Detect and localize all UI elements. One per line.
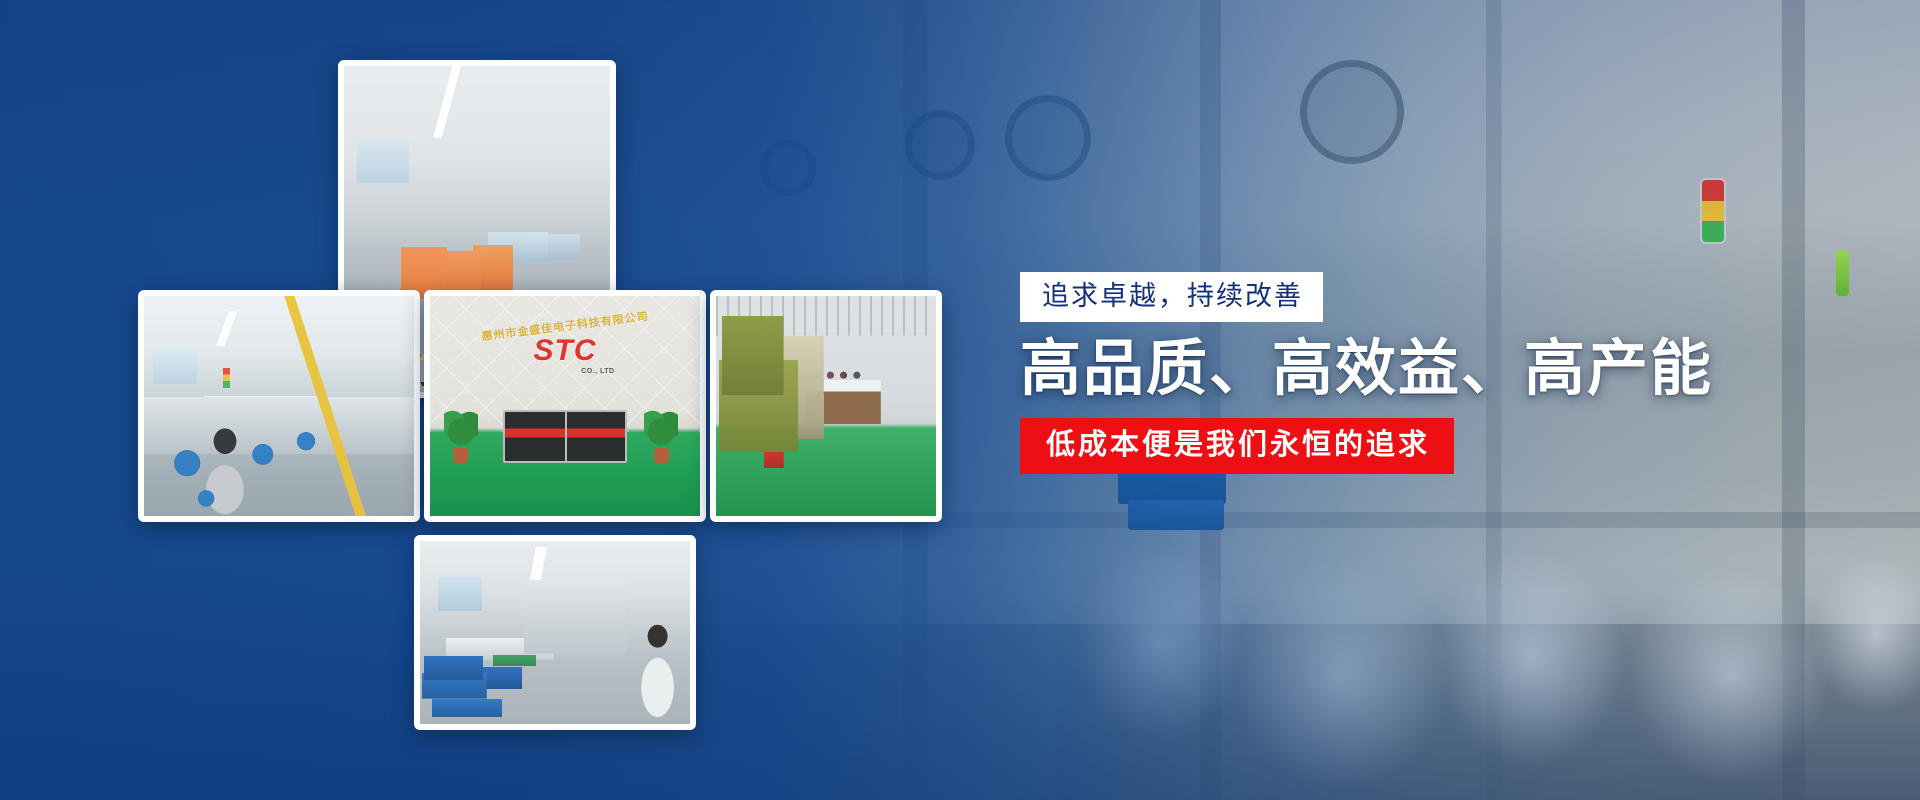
collage-photo-center: 惠州市金盛佳电子科技有限公司 STC CO., LTD bbox=[424, 290, 706, 522]
headline-text: 高品质、高效益、高产能 bbox=[1020, 334, 1720, 402]
kicker-label: 追求卓越，持续改善 bbox=[1020, 272, 1323, 322]
stc-logo: STC bbox=[534, 334, 597, 368]
reception-desk bbox=[503, 410, 627, 463]
slogan-block: 追求卓越，持续改善 高品质、高效益、高产能 低成本便是我们永恒的追求 bbox=[1020, 272, 1720, 474]
hero-banner: 惠州市金盛佳电子科技有限公司 STC CO., LTD 追求卓越，持续改善 高品… bbox=[0, 0, 1920, 800]
production-line-photo bbox=[144, 296, 414, 516]
reception-photo: 惠州市金盛佳电子科技有限公司 STC CO., LTD bbox=[430, 296, 700, 516]
potted-plant-icon bbox=[444, 409, 478, 463]
crates-line-photo bbox=[420, 541, 690, 724]
potted-plant-icon bbox=[644, 409, 678, 463]
collage-photo-bottom bbox=[414, 535, 696, 730]
collage-photo-right bbox=[710, 290, 942, 522]
machine-shop-photo bbox=[716, 296, 936, 516]
collage-photo-left bbox=[138, 290, 420, 522]
tagline-badge: 低成本便是我们永恒的追求 bbox=[1020, 418, 1454, 474]
company-english-name: CO., LTD bbox=[581, 368, 614, 375]
photo-collage: 惠州市金盛佳电子科技有限公司 STC CO., LTD bbox=[0, 0, 1000, 800]
